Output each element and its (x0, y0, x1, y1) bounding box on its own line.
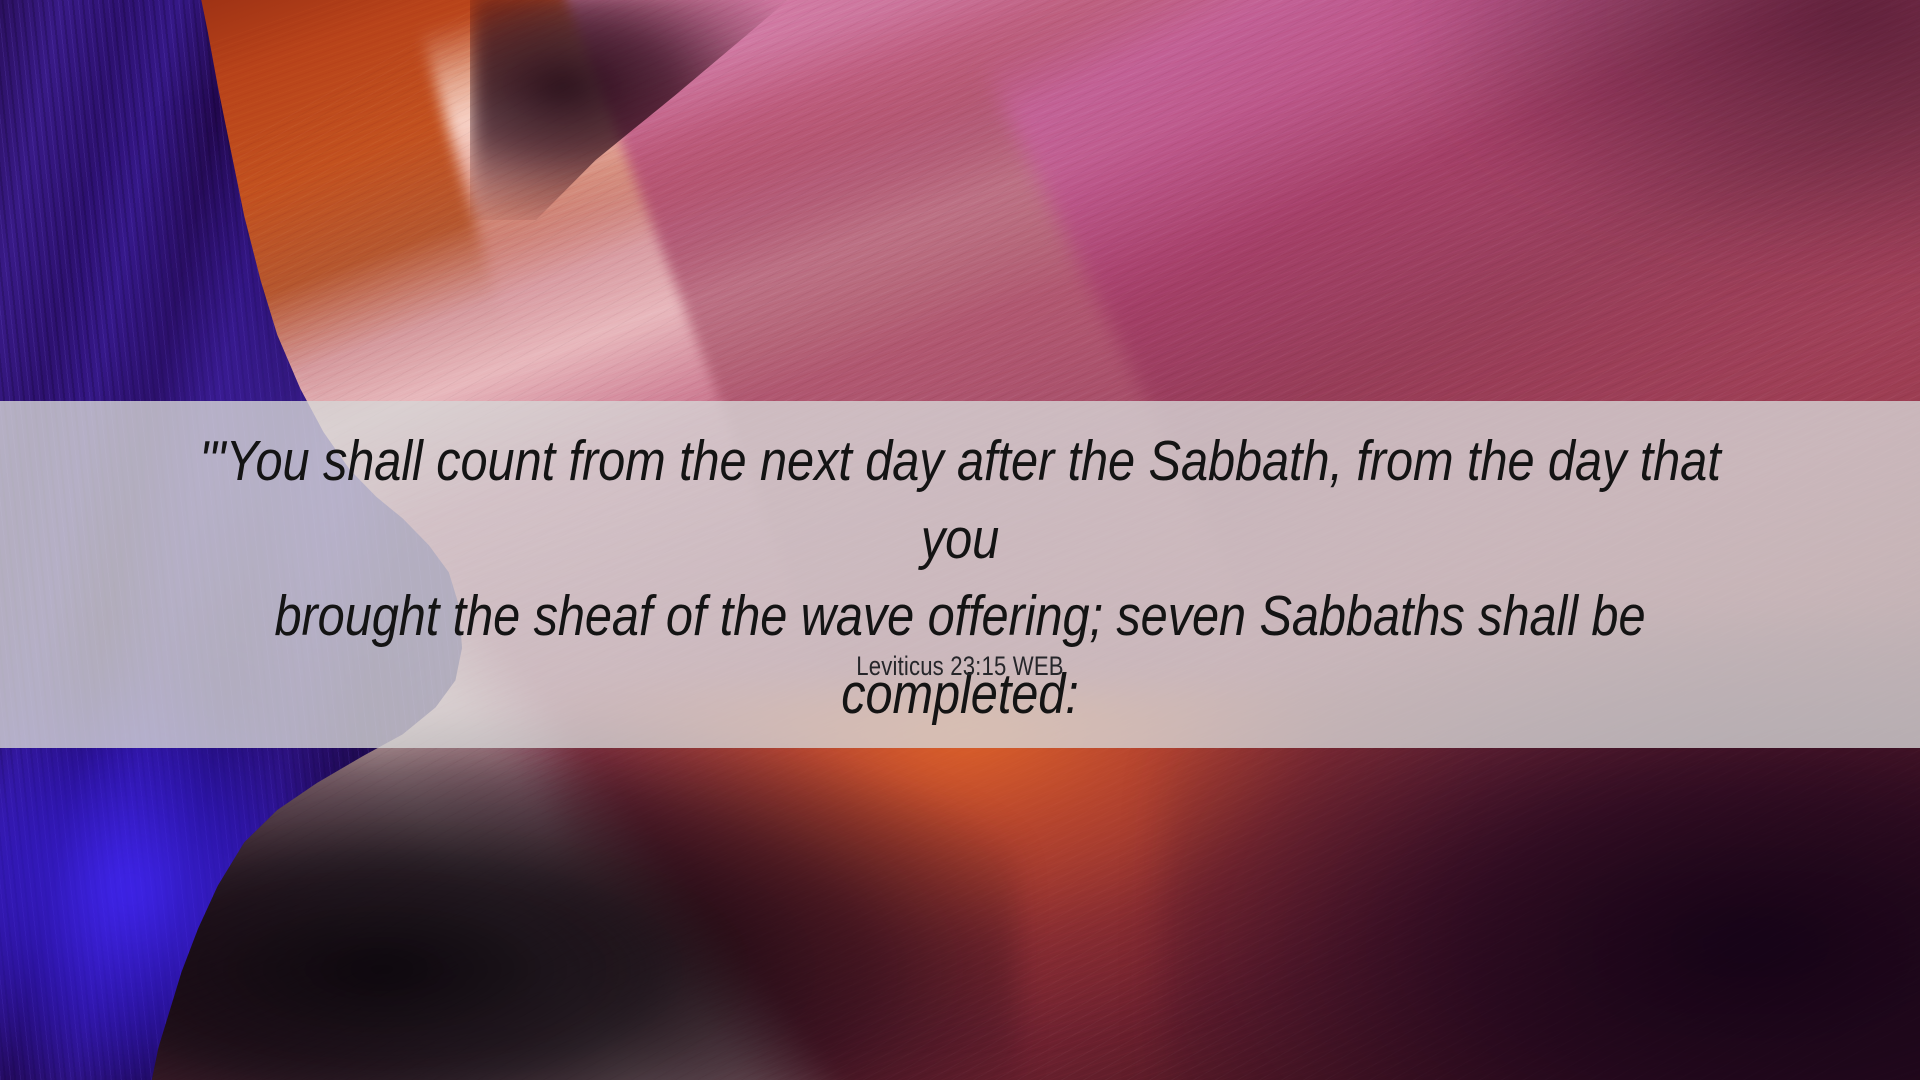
verse-reference: Leviticus 23:15 WEB (173, 651, 1747, 682)
verse-wallpaper: "'You shall count from the next day afte… (0, 0, 1920, 1080)
top-right-vignette (1420, 0, 1920, 260)
verse-quote-text: "'You shall count from the next day afte… (191, 423, 1730, 733)
quote-overlay-band: "'You shall count from the next day afte… (0, 401, 1920, 748)
